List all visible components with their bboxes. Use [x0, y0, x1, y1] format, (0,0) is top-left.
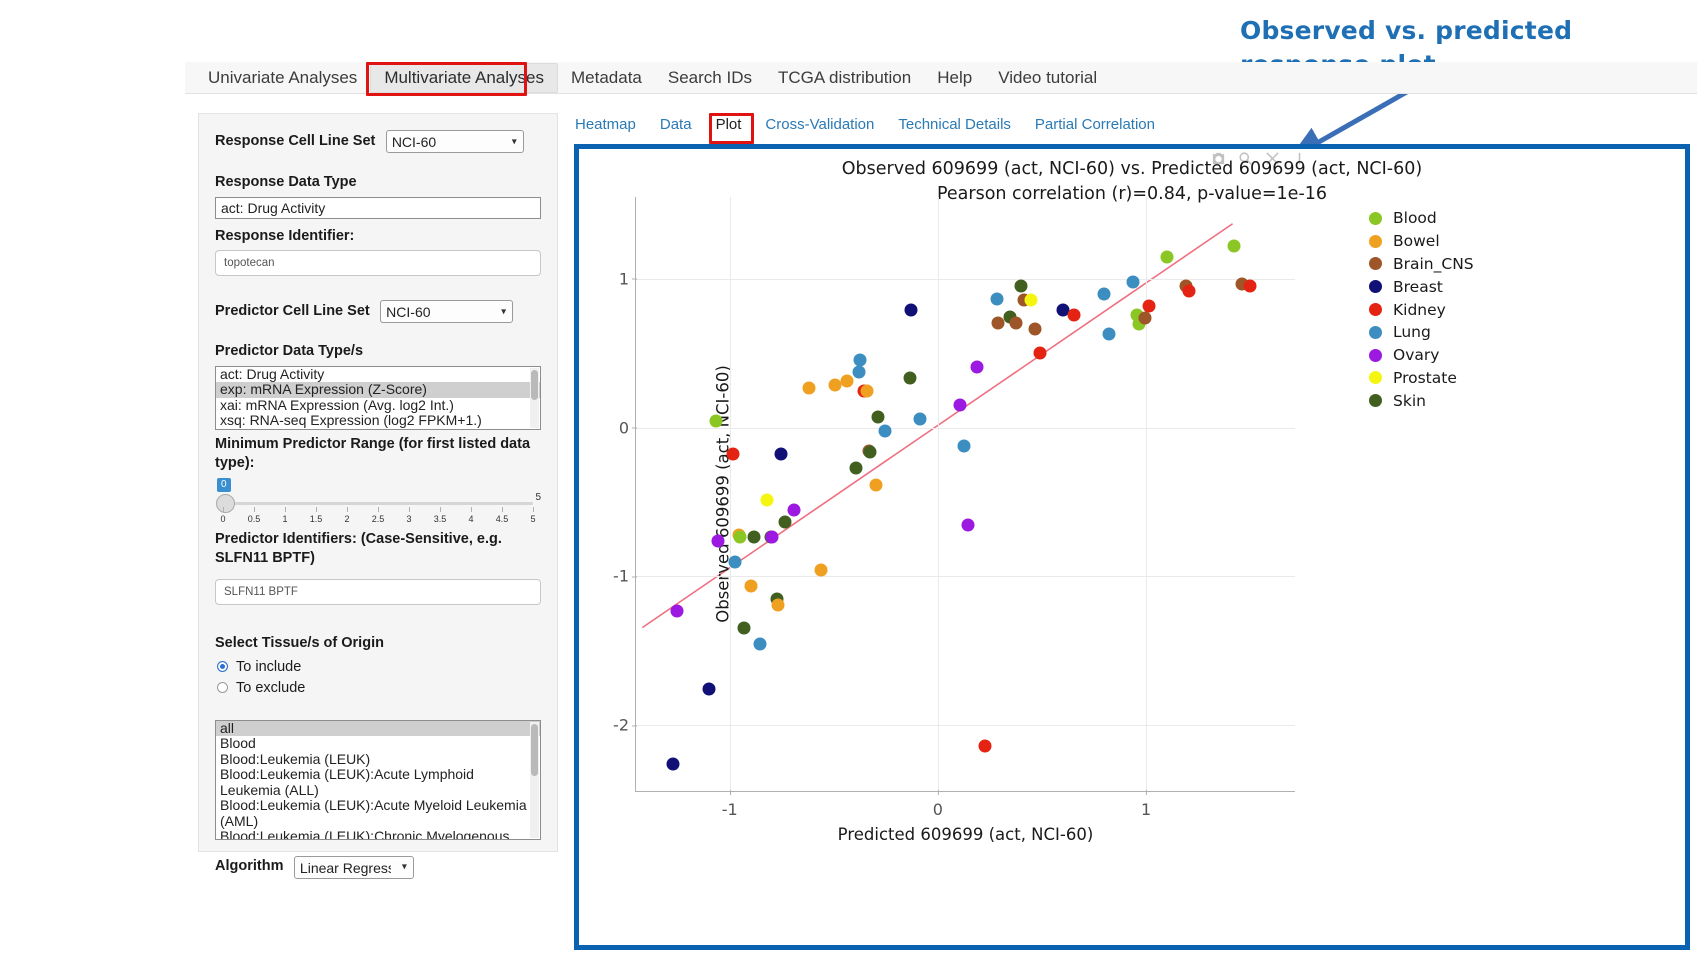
scatter-point[interactable] — [766, 530, 779, 543]
slider-tick: 4 — [468, 514, 473, 524]
main-navigation[interactable]: Univariate AnalysesMultivariate Analyses… — [185, 62, 1697, 94]
scatter-point[interactable] — [1227, 240, 1240, 253]
gridline-vertical — [938, 197, 939, 791]
predictor-data-type-option[interactable]: xsq: RNA-seq Expression (log2 FPKM+1.) — [216, 413, 540, 429]
nav-item-multivariate-analyses[interactable]: Multivariate Analyses — [370, 63, 558, 93]
scatter-point[interactable] — [747, 530, 760, 543]
legend-label: Skin — [1393, 392, 1426, 410]
y-axis-tick: 0 — [619, 418, 629, 437]
plot-tab-plot[interactable]: Plot — [716, 116, 742, 133]
x-axis-tick: -1 — [722, 800, 738, 819]
x-axis-tick: 0 — [933, 800, 943, 819]
algorithm-select[interactable]: Linear Regression — [294, 856, 414, 879]
response-identifier-label: Response Identifier: — [215, 227, 541, 247]
scatter-point[interactable] — [734, 530, 747, 543]
scatter-point[interactable] — [1009, 317, 1022, 330]
radio-label: To include — [236, 659, 301, 675]
gridline-horizontal — [636, 428, 1295, 429]
legend-item-lung[interactable]: Lung — [1369, 321, 1599, 344]
legend-item-blood[interactable]: Blood — [1369, 207, 1599, 230]
plot-tab-data[interactable]: Data — [660, 116, 692, 133]
slider-tick: 3.5 — [434, 514, 447, 524]
slider-tick: 0 — [220, 514, 225, 524]
predictor-identifiers-input[interactable] — [215, 579, 541, 605]
scatter-point[interactable] — [841, 375, 854, 388]
scatter-point[interactable] — [744, 579, 757, 592]
scatter-point[interactable] — [1143, 299, 1156, 312]
tissue-listbox[interactable]: allBloodBlood:Leukemia (LEUK)Blood:Leuke… — [215, 720, 541, 840]
scatter-point[interactable] — [971, 361, 984, 374]
scatter-point[interactable] — [991, 292, 1004, 305]
scatter-point[interactable] — [778, 516, 791, 529]
slider-tick-labels: 00.511.522.533.544.55 — [215, 507, 541, 525]
legend-item-brain_cns[interactable]: Brain_CNS — [1369, 253, 1599, 276]
tissue-mode-to-include[interactable]: To include — [217, 659, 541, 675]
scatter-point[interactable] — [828, 379, 841, 392]
nav-item-univariate-analyses[interactable]: Univariate Analyses — [195, 64, 370, 92]
slider-tick: 1.5 — [310, 514, 323, 524]
nav-item-tcga-distribution[interactable]: TCGA distribution — [765, 64, 924, 92]
y-axis-tick: -1 — [613, 567, 629, 586]
listbox-scrollbar[interactable] — [530, 368, 539, 428]
nav-item-help[interactable]: Help — [924, 64, 985, 92]
scatter-point[interactable] — [852, 365, 865, 378]
scatter-point[interactable] — [802, 382, 815, 395]
slider-tick: 2.5 — [372, 514, 385, 524]
scatter-point[interactable] — [1028, 322, 1041, 335]
radio-button[interactable] — [217, 661, 228, 672]
scatter-point[interactable] — [962, 518, 975, 531]
legend-item-skin[interactable]: Skin — [1369, 389, 1599, 412]
tissue-option[interactable]: Blood:Leukemia (LEUK) — [216, 752, 540, 768]
legend-color-swatch — [1369, 212, 1382, 225]
legend-item-prostate[interactable]: Prostate — [1369, 367, 1599, 390]
legend-label: Prostate — [1393, 369, 1457, 387]
gridline-horizontal — [636, 576, 1295, 577]
response-data-type-label: Response Data Type — [215, 173, 541, 193]
scatter-point[interactable] — [710, 414, 723, 427]
select-tissue-label: Select Tissue/s of Origin — [215, 634, 541, 654]
gridline-horizontal — [636, 725, 1295, 726]
legend-label: Lung — [1393, 323, 1431, 341]
listbox-scrollbar[interactable] — [530, 722, 539, 838]
nav-item-metadata[interactable]: Metadata — [558, 64, 655, 92]
scatter-point[interactable] — [871, 411, 884, 424]
slider-track[interactable] — [223, 502, 533, 505]
minimum-predictor-range-slider[interactable]: 0 5 00.511.522.533.544.55 — [215, 478, 541, 524]
scatter-point[interactable] — [702, 682, 715, 695]
slider-tick: 5 — [530, 514, 535, 524]
scatter-point[interactable] — [753, 637, 766, 650]
slider-tick: 0.5 — [248, 514, 261, 524]
x-axis-tick: 1 — [1141, 800, 1151, 819]
scatter-point[interactable] — [788, 504, 801, 517]
scatter-point[interactable] — [870, 478, 883, 491]
scatter-point[interactable] — [904, 304, 917, 317]
plot-title-line: Observed 609699 (act, NCI-60) vs. Predic… — [842, 159, 1422, 179]
scatter-point[interactable] — [914, 413, 927, 426]
legend-label: Ovary — [1393, 346, 1439, 364]
legend-color-swatch — [1369, 280, 1382, 293]
tissue-mode-radio-group[interactable]: To includeTo exclude — [215, 659, 541, 696]
legend-color-swatch — [1369, 303, 1382, 316]
scatter-point[interactable] — [761, 494, 774, 507]
scatter-point[interactable] — [1182, 284, 1195, 297]
slider-tick: 2 — [344, 514, 349, 524]
scatter-point[interactable] — [861, 385, 874, 398]
plot-tab-bar[interactable]: HeatmapDataPlotCross-ValidationTechnical… — [575, 116, 1155, 133]
predictor-identifiers-label: Predictor Identifiers: (Case-Sensitive, … — [215, 530, 541, 569]
tissue-option[interactable]: Blood:Leukemia (LEUK):Chronic Myelogenou… — [216, 829, 540, 840]
scatter-point[interactable] — [771, 599, 784, 612]
scatter-point[interactable] — [878, 424, 891, 437]
controls-sidebar: Response Cell Line Set NCI-60 ▾ Response… — [198, 113, 558, 852]
scatter-point[interactable] — [667, 758, 680, 771]
predictor-data-type-label: Predictor Data Type/s — [215, 342, 541, 362]
legend-color-swatch — [1369, 235, 1382, 248]
plot-legend[interactable]: BloodBowelBrain_CNSBreastKidneyLungOvary… — [1369, 207, 1599, 412]
gridline-vertical — [1146, 197, 1147, 791]
response-data-type-select[interactable] — [215, 197, 541, 219]
scatter-point[interactable] — [774, 448, 787, 461]
legend-label: Brain_CNS — [1393, 255, 1474, 273]
predictor-cell-line-set-label: Predictor Cell Line Set — [215, 302, 370, 322]
legend-color-swatch — [1369, 394, 1382, 407]
plot-tab-heatmap[interactable]: Heatmap — [575, 116, 636, 133]
predictor-data-type-listbox[interactable]: act: Drug Activityexp: mRNA Expression (… — [215, 366, 541, 430]
scatter-point[interactable] — [903, 371, 916, 384]
y-axis-tick: 1 — [619, 269, 629, 288]
radio-label: To exclude — [236, 680, 305, 696]
scatter-point[interactable] — [1024, 294, 1037, 307]
scatter-point[interactable] — [864, 446, 877, 459]
scatter-point[interactable] — [726, 447, 739, 460]
slider-tick: 3 — [406, 514, 411, 524]
scatter-point[interactable] — [978, 739, 991, 752]
gridline-horizontal — [636, 279, 1295, 280]
plot-axes: Observed 609699 (act, NCI-60) Predicted … — [635, 197, 1295, 792]
nav-item-search-ids[interactable]: Search IDs — [655, 64, 765, 92]
predictor-cell-line-set-select[interactable]: NCI-60 — [380, 300, 513, 323]
plot-panel: Observed 609699 (act, NCI-60) vs. Predic… — [574, 144, 1690, 950]
legend-color-swatch — [1369, 326, 1382, 339]
tissue-option[interactable]: Blood:Leukemia (LEUK):Acute Myeloid Leuk… — [216, 798, 540, 829]
y-axis-tick: -2 — [613, 716, 629, 735]
response-cell-line-set-select[interactable]: NCI-60 — [386, 130, 524, 153]
slider-tick: 4.5 — [496, 514, 509, 524]
scatter-point[interactable] — [1102, 327, 1115, 340]
scatter-point[interactable] — [712, 535, 725, 548]
slider-value-bubble: 0 — [217, 478, 231, 492]
scatter-point[interactable] — [815, 564, 828, 577]
scatter-point[interactable] — [1160, 250, 1173, 263]
legend-item-bowel[interactable]: Bowel — [1369, 230, 1599, 253]
legend-item-breast[interactable]: Breast — [1369, 275, 1599, 298]
scatter-point[interactable] — [953, 399, 966, 412]
scatter-point[interactable] — [670, 605, 683, 618]
algorithm-label: Algorithm — [215, 857, 283, 877]
gridline-vertical — [730, 197, 731, 791]
scatter-point[interactable] — [1098, 287, 1111, 300]
scatter-point[interactable] — [728, 556, 741, 569]
predictor-data-type-option[interactable]: xai: mRNA Expression (Avg. log2 Int.) — [216, 398, 540, 414]
tissue-option[interactable]: all — [216, 721, 540, 737]
predictor-data-type-option[interactable]: exp: mRNA Expression (Z-Score) — [216, 382, 540, 398]
slider-tick: 1 — [282, 514, 287, 524]
scatter-point[interactable] — [1033, 347, 1046, 360]
scatter-point[interactable] — [849, 462, 862, 475]
legend-label: Blood — [1393, 209, 1437, 227]
response-identifier-input[interactable] — [215, 250, 541, 276]
slider-max-label: 5 — [535, 492, 541, 503]
scatter-point[interactable] — [1139, 312, 1152, 325]
annotation-line-1: Observed vs. predicted — [1240, 16, 1572, 45]
legend-color-swatch — [1369, 349, 1382, 362]
legend-item-ovary[interactable]: Ovary — [1369, 344, 1599, 367]
legend-color-swatch — [1369, 371, 1382, 384]
tissue-mode-to-exclude[interactable]: To exclude — [217, 680, 541, 696]
scatter-point[interactable] — [1244, 279, 1257, 292]
legend-item-kidney[interactable]: Kidney — [1369, 298, 1599, 321]
predictor-data-type-option[interactable]: act: Drug Activity — [216, 367, 540, 383]
legend-color-swatch — [1369, 257, 1382, 270]
scatter-point[interactable] — [1068, 309, 1081, 322]
nav-item-video-tutorial[interactable]: Video tutorial — [985, 64, 1110, 92]
x-axis-label: Predicted 609699 (act, NCI-60) — [636, 825, 1295, 844]
tissue-option[interactable]: Blood — [216, 736, 540, 752]
minimum-predictor-range-label: Minimum Predictor Range (for first liste… — [215, 435, 541, 474]
plot-tab-cross-validation[interactable]: Cross-Validation — [765, 116, 874, 133]
radio-button[interactable] — [217, 682, 228, 693]
scatter-point[interactable] — [1015, 279, 1028, 292]
tissue-option[interactable]: Blood:Leukemia (LEUK):Acute Lymphoid Leu… — [216, 767, 540, 798]
regression-line — [636, 197, 1295, 791]
legend-label: Kidney — [1393, 301, 1446, 319]
scatter-point[interactable] — [738, 621, 751, 634]
plot-tab-partial-correlation[interactable]: Partial Correlation — [1035, 116, 1155, 133]
scatter-point[interactable] — [957, 440, 970, 453]
plot-tab-technical-details[interactable]: Technical Details — [898, 116, 1011, 133]
response-cell-line-set-label: Response Cell Line Set — [215, 132, 375, 152]
scatter-point[interactable] — [1126, 275, 1139, 288]
legend-label: Bowel — [1393, 232, 1440, 250]
legend-label: Breast — [1393, 278, 1443, 296]
